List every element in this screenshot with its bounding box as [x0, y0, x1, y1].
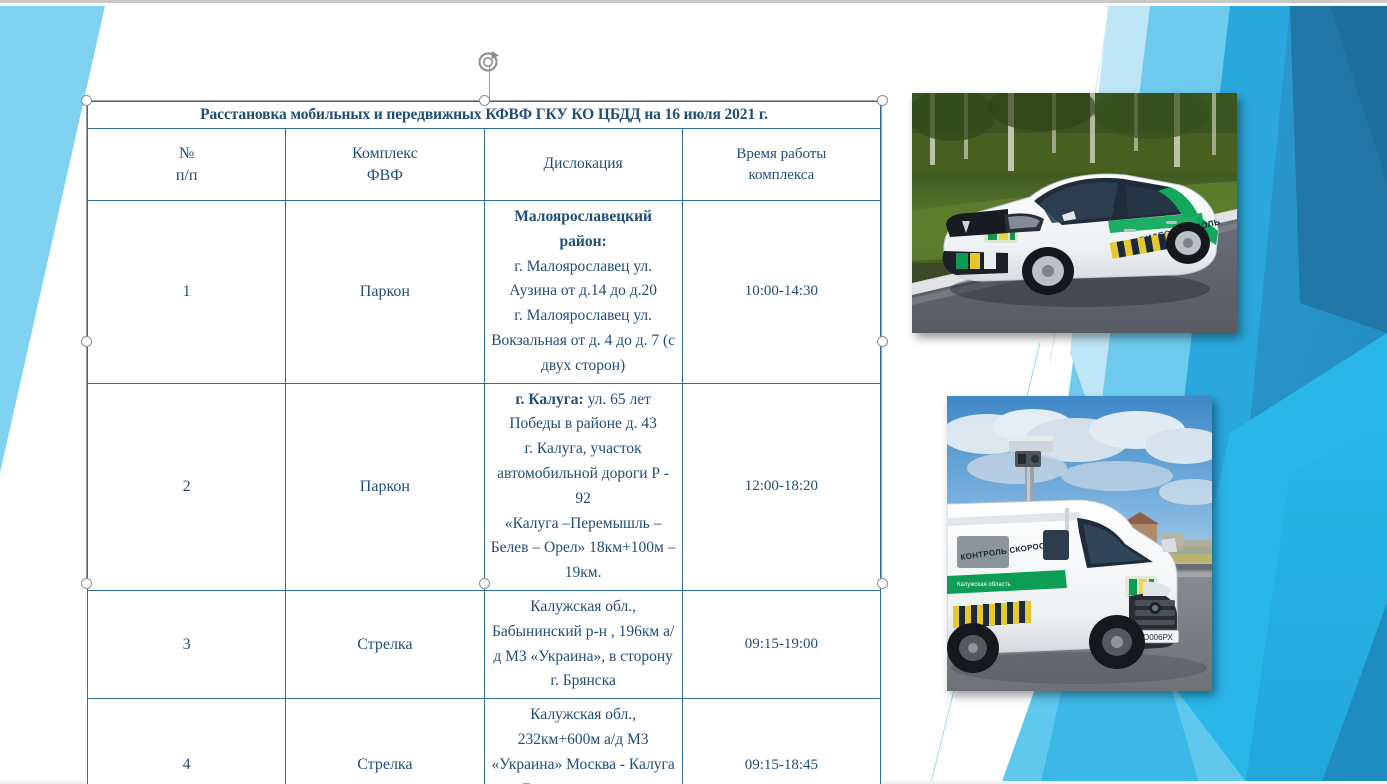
header-complex: Комплекс ФВФ — [286, 129, 484, 201]
resize-handle-top-center[interactable] — [479, 95, 490, 106]
bg-lower-right-b — [1245, 423, 1387, 784]
header-number-line2: п/п — [176, 167, 198, 184]
license-plate-text: О006РХ — [1143, 633, 1174, 642]
row-location: Калужская обл., Бабынинский р-н , 196км … — [484, 590, 682, 698]
row-complex: Стрелка — [286, 699, 484, 784]
rotate-icon[interactable] — [475, 47, 503, 75]
row-number: 2 — [88, 383, 286, 590]
row-complex: Стрелка — [286, 590, 484, 698]
header-location: Дислокация — [484, 129, 682, 201]
row-number: 3 — [88, 590, 286, 698]
header-time-line1: Время работы — [736, 146, 826, 162]
resize-handle-bottom-left[interactable] — [81, 578, 92, 589]
van-front-wheel — [1089, 615, 1145, 669]
front-wheel — [1022, 247, 1074, 295]
resize-handle-bottom-center[interactable] — [479, 578, 490, 589]
row-location: г. Калуга: ул. 65 лет Победы в районе д.… — [484, 383, 682, 590]
table-row[interactable]: 2 Паркон г. Калуга: ул. 65 лет Победы в … — [88, 383, 881, 590]
patrol-sedan-photo[interactable]: ВИДЕОКОНТРОЛЬ — [912, 93, 1237, 333]
table-title: Расстановка мобильных и передвижных КФВФ… — [88, 102, 881, 129]
header-number: № п/п — [88, 129, 286, 201]
table-row[interactable]: 1 Паркон Малоярославецкий район: г. Мало… — [88, 201, 881, 384]
row-location-line: г. Малоярославец ул. Вокзальная от д. 4 … — [491, 307, 675, 374]
header-complex-line1: Комплекс — [352, 145, 418, 162]
row-location-line: г. Малоярославец ул. Аузина от д.14 до д… — [509, 258, 657, 300]
van-subcaption: Калужская область — [957, 582, 1011, 588]
row-time: 09:15-18:45 — [682, 699, 880, 784]
resize-handle-top-left[interactable] — [81, 95, 92, 106]
bg-corner-darkest — [1330, 6, 1387, 183]
schedule-table-container[interactable]: Расстановка мобильных и передвижных КФВФ… — [87, 101, 881, 784]
van-rear-wheel — [947, 623, 999, 673]
resize-handle-middle-right[interactable] — [877, 336, 888, 347]
header-number-line1: № — [179, 145, 194, 162]
row-location: Малоярославецкий район: г. Малоярославец… — [484, 201, 682, 384]
table-row[interactable]: 4 Стрелка Калужская обл., 232км+600м а/д… — [88, 699, 881, 784]
mobile-speed-camera-van-photo[interactable]: КОНТРОЛЬ СКОРОСТИ Калужская область — [947, 396, 1212, 691]
bg-corner-dark — [1290, 6, 1387, 333]
row-time: 09:15-19:00 — [682, 590, 880, 698]
row-number: 4 — [88, 699, 286, 784]
table-header-row: № п/п Комплекс ФВФ Дислокация Время рабо… — [88, 129, 881, 201]
resize-handle-top-right[interactable] — [877, 95, 888, 106]
row-number: 1 — [88, 201, 286, 384]
table-row[interactable]: 3 Стрелка Калужская обл., Бабынинский р-… — [88, 590, 881, 698]
header-time-line2: комплекса — [748, 167, 814, 183]
row-location: Калужская обл., 232км+600м а/д М3 «Украи… — [484, 699, 682, 784]
row-location-line: г. Калуга: — [515, 391, 583, 408]
table-title-row: Расстановка мобильных и передвижных КФВФ… — [88, 102, 881, 129]
resize-handle-middle-left[interactable] — [81, 336, 92, 347]
row-location-line: «Калуга –Перемышль – Белев – Орел» 18км+… — [491, 515, 676, 582]
bg-lower-corner — [1320, 603, 1387, 784]
row-complex: Паркон — [286, 201, 484, 384]
header-complex-line2: ФВФ — [367, 167, 403, 184]
license-plate: О006РХ — [1139, 630, 1179, 643]
rear-wheel — [1166, 222, 1210, 264]
presentation-slide: Расстановка мобильных и передвижных КФВФ… — [0, 0, 1387, 784]
header-time: Время работы комплекса — [682, 129, 880, 201]
row-location-line: г. Калуга, участок автомобильной дороги … — [497, 440, 669, 507]
row-location-line: Малоярославецкий район: — [514, 208, 652, 250]
schedule-table[interactable]: Расстановка мобильных и передвижных КФВФ… — [87, 101, 881, 784]
row-time: 12:00-18:20 — [682, 383, 880, 590]
row-complex: Паркон — [286, 383, 484, 590]
resize-handle-bottom-right[interactable] — [877, 578, 888, 589]
row-time: 10:00-14:30 — [682, 201, 880, 384]
